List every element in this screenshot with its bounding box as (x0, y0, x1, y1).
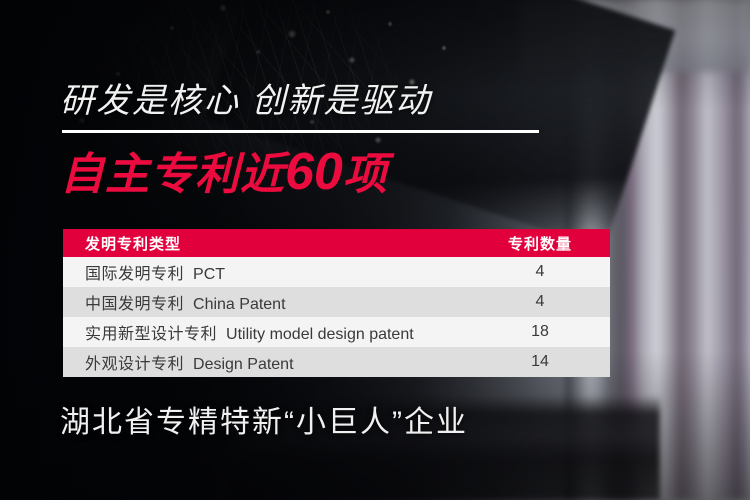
cell-patent-count: 4 (484, 257, 610, 287)
table-row: 外观设计专利Design Patent 14 (63, 347, 610, 377)
table-header-row: 发明专利类型 专利数量 (63, 229, 610, 257)
cell-patent-type: 外观设计专利Design Patent (63, 347, 484, 377)
headline-primary-number: 60 (285, 143, 343, 201)
column-header-patent-count: 专利数量 (484, 229, 610, 257)
column-header-patent-type: 发明专利类型 (63, 229, 484, 257)
patent-table-head: 发明专利类型 专利数量 (63, 229, 610, 257)
headline-tagline: 研发是核心 创新是驱动 (60, 80, 431, 122)
cell-patent-type: 实用新型设计专利Utility model design patent (63, 317, 484, 347)
banner-content: 研发是核心 创新是驱动 自主专利近60项 发明专利类型 专利数量 国际发明专利P… (0, 0, 750, 500)
cell-patent-count: 18 (484, 317, 610, 347)
cell-patent-count: 4 (484, 287, 610, 317)
headline-primary-suffix: 项 (343, 150, 388, 199)
patent-type-cn: 国际发明专利 (85, 266, 184, 283)
cell-patent-type: 国际发明专利PCT (63, 257, 484, 287)
headline-divider-rule (62, 130, 539, 133)
patent-type-cn: 中国发明专利 (85, 296, 184, 313)
patent-type-en: Utility model design patent (226, 326, 414, 343)
patent-table: 发明专利类型 专利数量 国际发明专利PCT 4 中国发明专利China Pate… (63, 229, 610, 377)
headline-primary-prefix: 自主专利近 (60, 150, 285, 199)
patent-type-cn: 实用新型设计专利 (85, 326, 217, 343)
patent-type-en: China Patent (193, 296, 286, 313)
patent-type-en: PCT (193, 266, 225, 283)
patent-type-en: Design Patent (193, 356, 294, 373)
patent-type-cn: 外观设计专利 (85, 356, 184, 373)
cell-patent-type: 中国发明专利China Patent (63, 287, 484, 317)
table-row: 实用新型设计专利Utility model design patent 18 (63, 317, 610, 347)
table-row: 国际发明专利PCT 4 (63, 257, 610, 287)
headline-primary: 自主专利近60项 (60, 143, 388, 204)
footer-tagline: 湖北省专精特新“小巨人”企业 (60, 403, 468, 443)
table-row: 中国发明专利China Patent 4 (63, 287, 610, 317)
cell-patent-count: 14 (484, 347, 610, 377)
patent-table-body: 国际发明专利PCT 4 中国发明专利China Patent 4 实用新型设计专… (63, 257, 610, 377)
banner-stage: 研发是核心 创新是驱动 自主专利近60项 发明专利类型 专利数量 国际发明专利P… (0, 0, 750, 500)
